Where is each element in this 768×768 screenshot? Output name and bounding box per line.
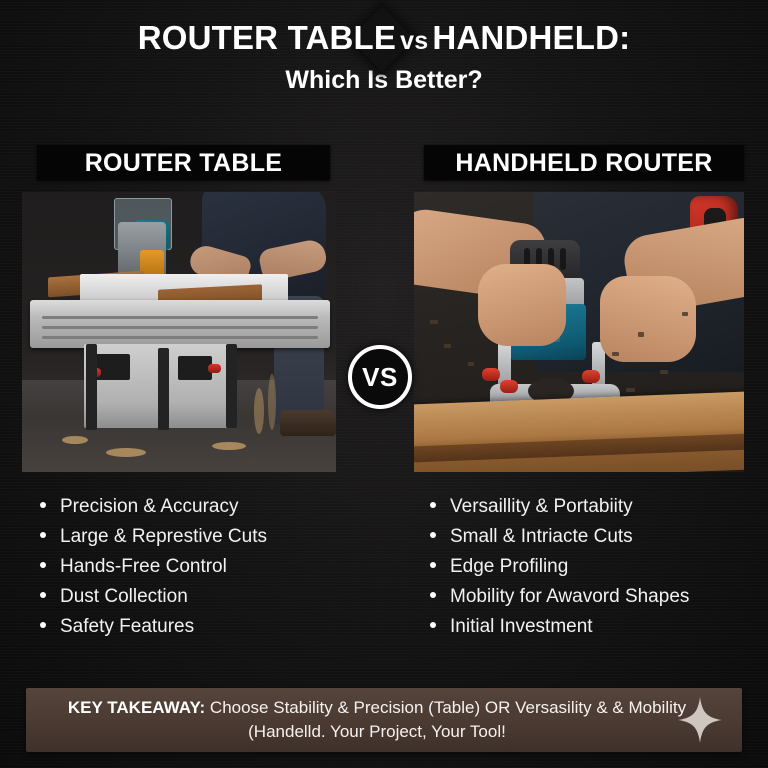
list-item-label: Precision & Accuracy xyxy=(60,492,238,522)
bullet-dot-icon xyxy=(430,502,436,508)
bullet-dot-icon xyxy=(430,622,436,628)
bullet-dot-icon xyxy=(40,532,46,538)
title-right-term: HANDHELD: xyxy=(432,19,630,56)
bullet-dot-icon xyxy=(40,622,46,628)
list-item: Large & Represtive Cuts xyxy=(40,522,370,552)
list-item-label: Small & Intriacte Cuts xyxy=(450,522,633,552)
key-takeaway-line-1: Choose Stability & Precision (Table) OR … xyxy=(205,698,608,717)
list-item-label: Mobility for Awavord Shapes xyxy=(450,582,689,612)
sawdust-chip xyxy=(444,344,451,348)
title-left-term: ROUTER TABLE xyxy=(138,19,396,56)
sawdust-chip xyxy=(468,362,474,366)
list-item-label: Large & Represtive Cuts xyxy=(60,522,267,552)
bullet-dot-icon xyxy=(40,592,46,598)
bullet-dot-icon xyxy=(430,592,436,598)
handheld-router-image xyxy=(414,192,744,472)
bullet-dot-icon xyxy=(430,532,436,538)
key-takeaway-text: KEY TAKEAWAY: Choose Stability & Precisi… xyxy=(26,696,742,744)
list-item-label: Dust Collection xyxy=(60,582,188,612)
list-item-label: Hands-Free Control xyxy=(60,552,227,582)
title-block: ROUTER TABLEvsHANDHELD: Which Is Better? xyxy=(0,18,768,95)
sawdust-chip xyxy=(612,352,619,356)
vs-badge: VS xyxy=(348,345,412,409)
router-table-surface xyxy=(30,300,330,348)
handheld-right-hand xyxy=(600,276,696,362)
list-item-label: Versaillity & Portabiity xyxy=(450,492,633,522)
sawdust-speck xyxy=(212,442,246,450)
sawdust-chip xyxy=(430,320,438,324)
column-header-left-label: ROUTER TABLE xyxy=(85,150,283,176)
sawdust-speck xyxy=(254,388,264,434)
column-header-right: HANDHELD ROUTER xyxy=(424,145,744,180)
list-item: Initial Investment xyxy=(430,612,760,642)
depth-adjust-knob xyxy=(482,368,500,381)
router-table-person-boot xyxy=(280,410,336,436)
list-item: Small & Intriacte Cuts xyxy=(430,522,760,552)
sawdust-chip xyxy=(638,332,644,337)
sawdust-chip xyxy=(660,370,668,374)
sparkle-icon xyxy=(678,697,722,743)
depth-adjust-knob xyxy=(500,380,518,393)
handheld-router-feature-list: Versaillity & Portabiity Small & Intriac… xyxy=(430,492,760,642)
sawdust-speck xyxy=(268,374,276,430)
router-table-slot xyxy=(42,326,318,329)
list-item: Hands-Free Control xyxy=(40,552,370,582)
router-table-stand-leg xyxy=(158,348,169,430)
depth-adjust-knob xyxy=(582,370,600,383)
router-table-slot xyxy=(42,336,318,339)
column-header-right-label: HANDHELD ROUTER xyxy=(455,150,712,176)
sawdust-speck xyxy=(62,436,88,444)
router-table-feature-list: Precision & Accuracy Large & Represtive … xyxy=(40,492,370,642)
title-line-1: ROUTER TABLEvsHANDHELD: xyxy=(138,18,631,61)
motor-vent xyxy=(560,248,566,270)
bullet-dot-icon xyxy=(40,562,46,568)
handheld-left-hand xyxy=(478,264,566,346)
column-header-left: ROUTER TABLE xyxy=(37,145,330,180)
list-item-label: Initial Investment xyxy=(450,612,593,642)
router-table-image xyxy=(22,192,336,472)
list-item-label: Safety Features xyxy=(60,612,194,642)
list-item: Versaillity & Portabiity xyxy=(430,492,760,522)
list-item: Edge Profiling xyxy=(430,552,760,582)
list-item-label: Edge Profiling xyxy=(450,552,568,582)
title-vs-word: vs xyxy=(396,27,432,55)
bullet-dot-icon xyxy=(430,562,436,568)
sawdust-speck xyxy=(106,448,146,457)
router-table-stand-leg xyxy=(226,344,237,428)
router-table-slot xyxy=(42,316,318,319)
key-takeaway-bar: KEY TAKEAWAY: Choose Stability & Precisi… xyxy=(26,688,742,752)
sawdust-chip xyxy=(626,388,635,392)
key-takeaway-label: KEY TAKEAWAY: xyxy=(68,698,205,717)
list-item: Safety Features xyxy=(40,612,370,642)
sawdust-chip xyxy=(682,312,688,316)
list-item: Mobility for Awavord Shapes xyxy=(430,582,760,612)
list-item: Precision & Accuracy xyxy=(40,492,370,522)
list-item: Dust Collection xyxy=(40,582,370,612)
router-table-stand-leg xyxy=(86,344,97,430)
router-table-red-knob xyxy=(208,364,221,373)
bullet-dot-icon xyxy=(40,502,46,508)
vs-badge-label: VS xyxy=(362,364,398,390)
router-table-control-panel xyxy=(178,356,212,380)
